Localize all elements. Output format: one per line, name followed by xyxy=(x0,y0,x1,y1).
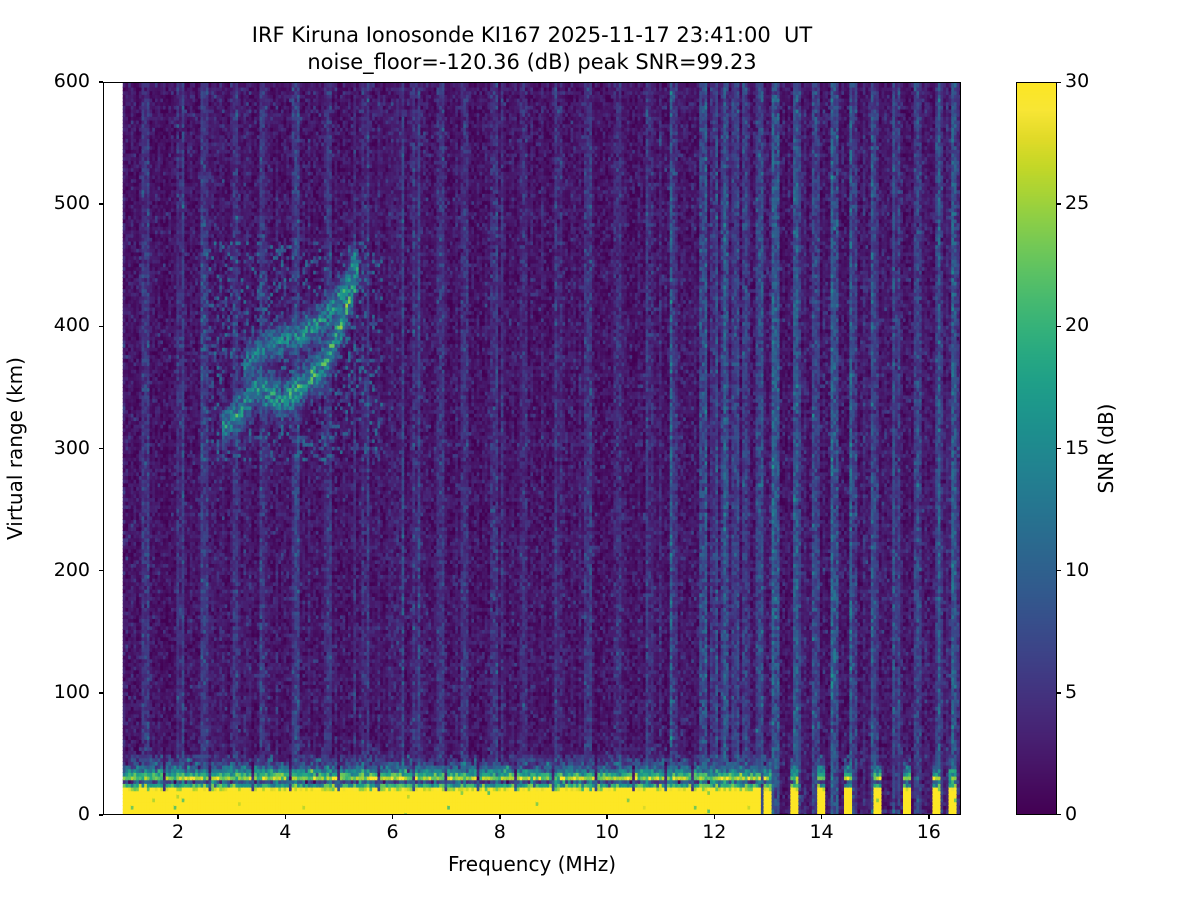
y-tick-label-text: 200 xyxy=(54,561,90,580)
ionogram-figure: IRF Kiruna Ionosonde KI167 2025-11-17 23… xyxy=(0,0,1200,900)
colorbar-label: SNR (dB) xyxy=(1093,82,1119,815)
ionogram-heatmap xyxy=(104,83,961,815)
x-tick xyxy=(499,815,500,819)
x-tick xyxy=(177,815,178,819)
colorbar-gradient xyxy=(1016,82,1057,815)
x-axis-label: Frequency (MHz) xyxy=(103,853,961,875)
colorbar-group: 051015202530 xyxy=(1016,82,1057,815)
x-tick xyxy=(392,815,393,819)
colorbar-tick xyxy=(1057,448,1061,449)
colorbar-tick xyxy=(1057,692,1061,693)
y-tick xyxy=(99,326,103,327)
title-line-1: IRF Kiruna Ionosonde KI167 2025-11-17 23… xyxy=(103,22,961,49)
y-tick-label-text: 600 xyxy=(54,72,90,91)
colorbar-tick xyxy=(1057,326,1061,327)
y-tick xyxy=(99,81,103,82)
colorbar-tick-label-text: 5 xyxy=(1065,683,1077,702)
y-tick xyxy=(99,448,103,449)
x-tick-label-text: 2 xyxy=(172,823,184,842)
plot-title: IRF Kiruna Ionosonde KI167 2025-11-17 23… xyxy=(103,22,961,76)
x-tick-label-text: 16 xyxy=(917,823,941,842)
y-tick xyxy=(99,692,103,693)
y-tick xyxy=(99,570,103,571)
colorbar-tick-label-text: 15 xyxy=(1065,439,1089,458)
colorbar-tick-label-text: 0 xyxy=(1065,805,1077,824)
x-tick-label-text: 8 xyxy=(494,823,506,842)
ionogram-axes xyxy=(103,82,961,815)
colorbar-tick-label-text: 25 xyxy=(1065,194,1089,213)
colorbar-tick xyxy=(1057,203,1061,204)
x-tick-label-text: 4 xyxy=(279,823,291,842)
y-axis-label: Virtual range (km) xyxy=(0,82,30,815)
x-tick xyxy=(606,815,607,819)
x-tick-label-text: 12 xyxy=(702,823,726,842)
y-tick-label-text: 500 xyxy=(54,194,90,213)
y-tick-label-text: 300 xyxy=(54,439,90,458)
title-line-2: noise_floor=-120.36 (dB) peak SNR=99.23 xyxy=(103,49,961,76)
y-tick xyxy=(99,814,103,815)
x-tick-label-text: 14 xyxy=(809,823,833,842)
x-tick-label-text: 6 xyxy=(387,823,399,842)
y-tick xyxy=(99,203,103,204)
x-tick xyxy=(928,815,929,819)
y-tick-label-text: 400 xyxy=(54,316,90,335)
colorbar-tick-label-text: 30 xyxy=(1065,72,1089,91)
y-tick-label-text: 100 xyxy=(54,683,90,702)
colorbar-tick xyxy=(1057,82,1061,83)
x-tick xyxy=(285,815,286,819)
y-tick-label-text: 0 xyxy=(78,805,90,824)
x-tick xyxy=(821,815,822,819)
colorbar-tick-label-text: 10 xyxy=(1065,561,1089,580)
colorbar-tick xyxy=(1057,570,1061,571)
colorbar-tick xyxy=(1057,814,1061,815)
colorbar-tick-label-text: 20 xyxy=(1065,316,1089,335)
x-tick-label-text: 10 xyxy=(595,823,619,842)
x-tick xyxy=(714,815,715,819)
